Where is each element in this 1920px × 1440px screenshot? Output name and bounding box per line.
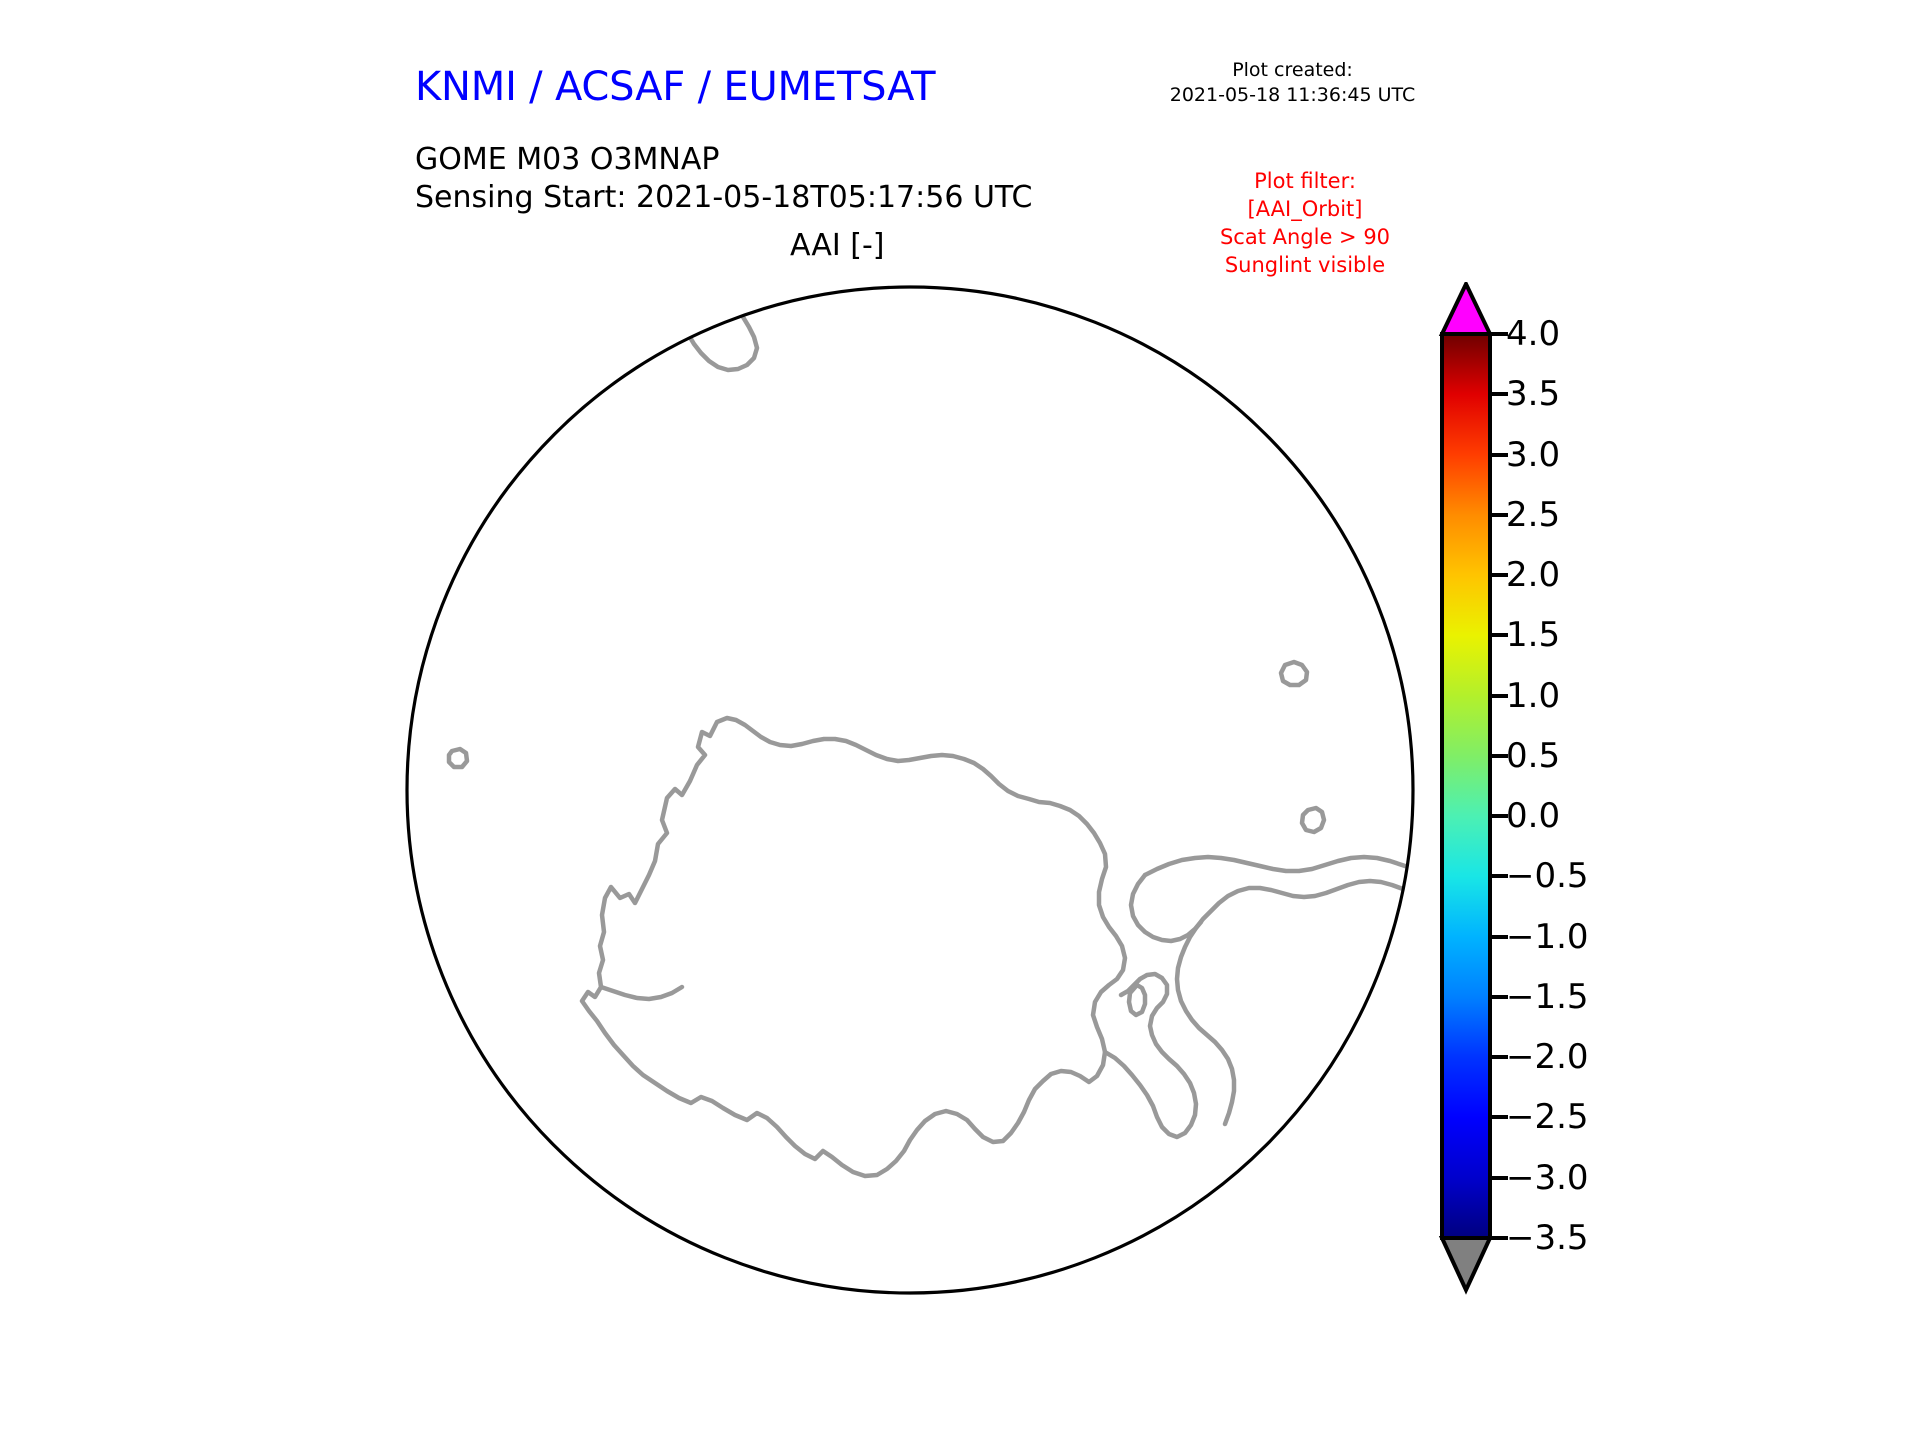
- colorbar-label-neg0.5: −0.5: [1506, 856, 1589, 896]
- colorbar-gradient: [1442, 334, 1490, 1238]
- plot-canvas: KNMI / ACSAF / EUMETSAT Plot created: 20…: [0, 0, 1920, 1440]
- plot-created-label: Plot created:: [1140, 58, 1445, 83]
- colorbar-label-2.5: 2.5: [1506, 495, 1560, 535]
- colorbar-label-4.0: 4.0: [1506, 314, 1560, 354]
- colorbar-label-neg1.0: −1.0: [1506, 917, 1589, 957]
- plot-created-block: Plot created: 2021-05-18 11:36:45 UTC: [1140, 58, 1445, 109]
- colorbar: 4.0 3.5 3.0 2.5 2.0 1.5 1.0 0.5 0.0 −0.5…: [1428, 282, 1688, 1302]
- colorbar-label-0.5: 0.5: [1506, 736, 1560, 776]
- coastline-new-zealand-north: [735, 285, 763, 290]
- colorbar-label-3.5: 3.5: [1506, 374, 1560, 414]
- plot-filter-name: [AAI_Orbit]: [1165, 196, 1445, 224]
- sensing-start-text: Sensing Start: 2021-05-18T05:17:56 UTC: [415, 180, 1032, 215]
- colorbar-label-1.0: 1.0: [1506, 676, 1560, 716]
- page-title: AAI [-]: [790, 228, 885, 263]
- plot-created-timestamp: 2021-05-18 11:36:45 UTC: [1140, 83, 1445, 108]
- colorbar-label-2.0: 2.0: [1506, 555, 1560, 595]
- map-globe: [405, 285, 1415, 1297]
- colorbar-under-arrow: [1442, 1238, 1490, 1290]
- south-polar-projection: [405, 285, 1415, 1297]
- plot-filter-sunglint: Sunglint visible: [1165, 252, 1445, 280]
- plot-filter-block: Plot filter: [AAI_Orbit] Scat Angle > 90…: [1165, 168, 1445, 280]
- colorbar-label-0.0: 0.0: [1506, 796, 1560, 836]
- colorbar-label-neg1.5: −1.5: [1506, 977, 1589, 1017]
- colorbar-label-neg2.5: −2.5: [1506, 1097, 1589, 1137]
- product-title: GOME M03 O3MNAP: [415, 140, 719, 179]
- plot-filter-label: Plot filter:: [1165, 168, 1445, 196]
- agency-title: KNMI / ACSAF / EUMETSAT: [415, 64, 935, 110]
- plot-filter-scat: Scat Angle > 90: [1165, 224, 1445, 252]
- colorbar-label-neg2.0: −2.0: [1506, 1037, 1589, 1077]
- colorbar-label-neg3.5: −3.5: [1506, 1218, 1589, 1258]
- colorbar-label-neg3.0: −3.0: [1506, 1158, 1589, 1198]
- colorbar-over-arrow: [1442, 284, 1490, 334]
- coastline-tasmania: [523, 299, 565, 345]
- colorbar-label-3.0: 3.0: [1506, 435, 1560, 475]
- colorbar-label-1.5: 1.5: [1506, 615, 1560, 655]
